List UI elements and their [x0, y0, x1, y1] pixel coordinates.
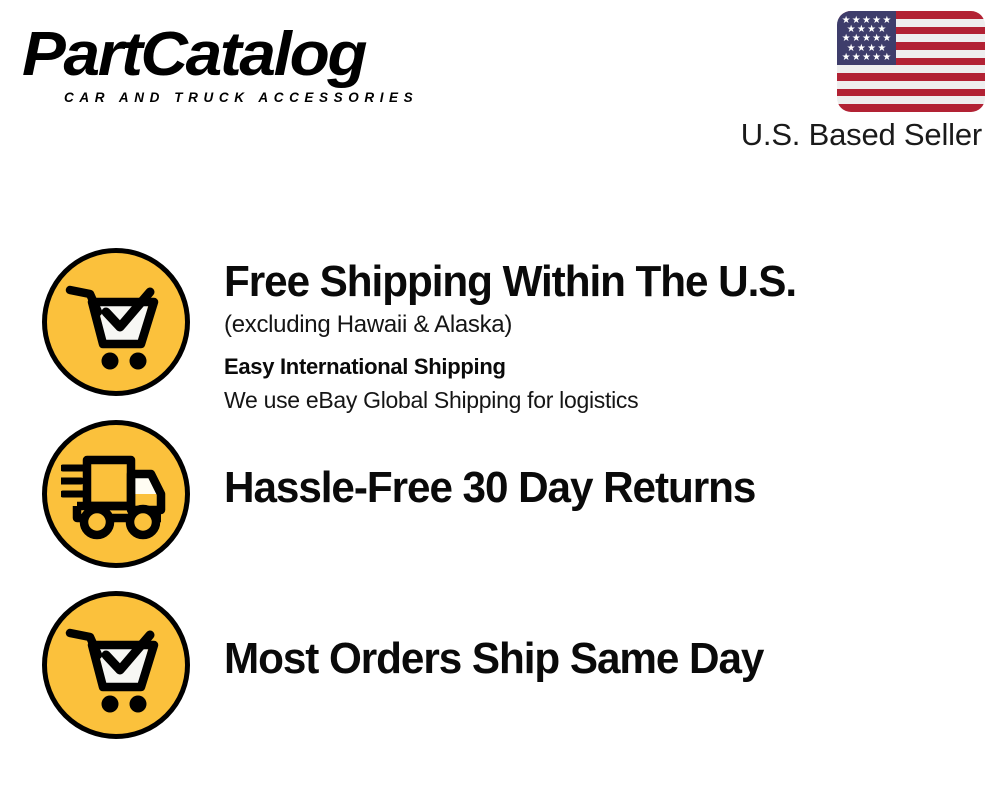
feature-item: Hassle-Free 30 Day Returns — [42, 420, 982, 568]
brand-logo: PartCatalog CAR AND TRUCK ACCESSORIES — [22, 18, 492, 106]
flag-star: ★ — [842, 53, 851, 62]
brand-wordmark: PartCatalog — [22, 18, 520, 92]
flag-stripe — [837, 89, 985, 97]
shopping-cart-check-icon — [42, 248, 190, 396]
feature-secondary-title: Easy International Shipping — [224, 350, 820, 384]
us-flag-graphic: ★ ★ ★ ★ ★ ★ ★ ★ ★ ★ ★ ★ — [837, 11, 985, 112]
flag-stripe — [837, 73, 985, 81]
flag-star: ★ — [882, 53, 891, 62]
feature-subtitle: (excluding Hawaii & Alaska) — [224, 308, 820, 342]
feature-title: Free Shipping Within The U.S. — [224, 256, 796, 308]
feature-text-block: Hassle-Free 30 Day Returns — [224, 420, 777, 514]
seller-trust-banner: PartCatalog CAR AND TRUCK ACCESSORIES ★ … — [0, 0, 1000, 800]
feature-title: Hassle-Free 30 Day Returns — [224, 462, 755, 514]
us-flag-icon: ★ ★ ★ ★ ★ ★ ★ ★ ★ ★ ★ ★ — [837, 11, 985, 112]
feature-text-block: Free Shipping Within The U.S. (excluding… — [224, 248, 820, 416]
shopping-cart-check-icon — [42, 591, 190, 739]
feature-text-block: Most Orders Ship Same Day — [224, 591, 786, 685]
delivery-truck-icon — [42, 420, 190, 568]
flag-star: ★ — [852, 53, 861, 62]
banner-header: PartCatalog CAR AND TRUCK ACCESSORIES ★ … — [0, 0, 1000, 170]
flag-star: ★ — [862, 53, 871, 62]
flag-canton: ★ ★ ★ ★ ★ ★ ★ ★ ★ ★ ★ ★ — [837, 11, 896, 65]
us-based-seller-label: U.S. Based Seller — [741, 116, 982, 154]
brand-tagline: CAR AND TRUCK ACCESSORIES — [64, 90, 492, 106]
feature-title: Most Orders Ship Same Day — [224, 633, 763, 685]
feature-item: Most Orders Ship Same Day — [42, 591, 982, 739]
flag-star-row: ★ ★ ★ ★ ★ — [841, 53, 892, 62]
feature-secondary-text: We use eBay Global Shipping for logistic… — [224, 384, 820, 416]
flag-stripe — [837, 104, 985, 112]
feature-item: Free Shipping Within The U.S. (excluding… — [42, 248, 982, 416]
flag-star: ★ — [872, 53, 881, 62]
